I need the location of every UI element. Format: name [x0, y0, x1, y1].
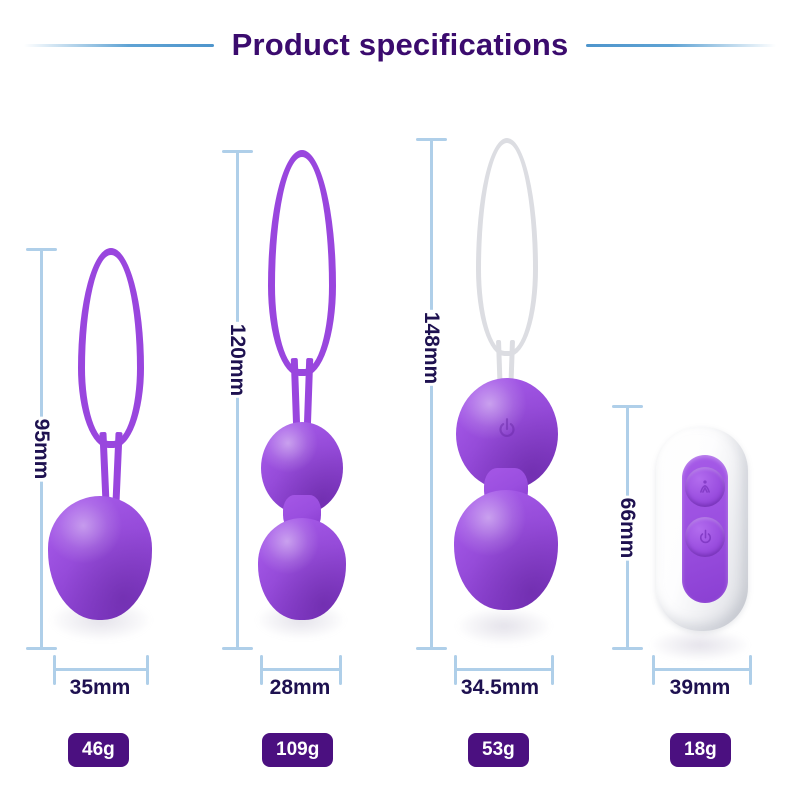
width-label-2: 28mm [200, 676, 400, 700]
weight-badge-3: 53g [468, 733, 529, 767]
width-label-3: 34.5mm [400, 676, 600, 700]
width-label-4: 39mm [600, 676, 800, 700]
width-label-1: 35mm [0, 676, 200, 700]
cord-loop-2 [268, 150, 336, 376]
weight-badge-4: 18g [670, 733, 731, 767]
product-shadow [458, 608, 550, 644]
lower-ball-2 [258, 518, 346, 620]
remote-button-pad [682, 455, 728, 603]
product-image-dual-ball-purple [200, 150, 400, 650]
product-image-single-egg [0, 248, 200, 650]
cord-loop-1 [78, 248, 144, 448]
power-icon [494, 416, 520, 442]
wireless-signal-button[interactable] [685, 467, 725, 507]
cord-loop-3 [476, 138, 538, 356]
power-icon [696, 528, 715, 547]
dimension-bar [53, 668, 149, 671]
product-image-remote [600, 405, 800, 650]
power-button[interactable] [685, 517, 725, 557]
product-column-single-egg: 95mm 35mm 46g [0, 0, 200, 800]
product-image-dual-ball-white [400, 138, 600, 650]
dimension-bar [260, 668, 342, 671]
egg-body-1 [48, 496, 152, 620]
products-stage: 95mm 35mm 46g 120mm [0, 0, 800, 800]
product-column-dual-ball-purple: 120mm 28mm 109g [200, 0, 400, 800]
dimension-bar [454, 668, 554, 671]
weight-badge-2: 109g [262, 733, 333, 767]
product-column-dual-ball-white: 148mm 34.5mm 53g [400, 0, 600, 800]
remote-body [656, 427, 748, 631]
lower-ball-3 [454, 490, 558, 610]
weight-badge-1: 46g [68, 733, 129, 767]
product-column-remote: 66mm [600, 0, 800, 800]
dimension-bar [652, 668, 752, 671]
wireless-signal-icon [695, 477, 715, 497]
